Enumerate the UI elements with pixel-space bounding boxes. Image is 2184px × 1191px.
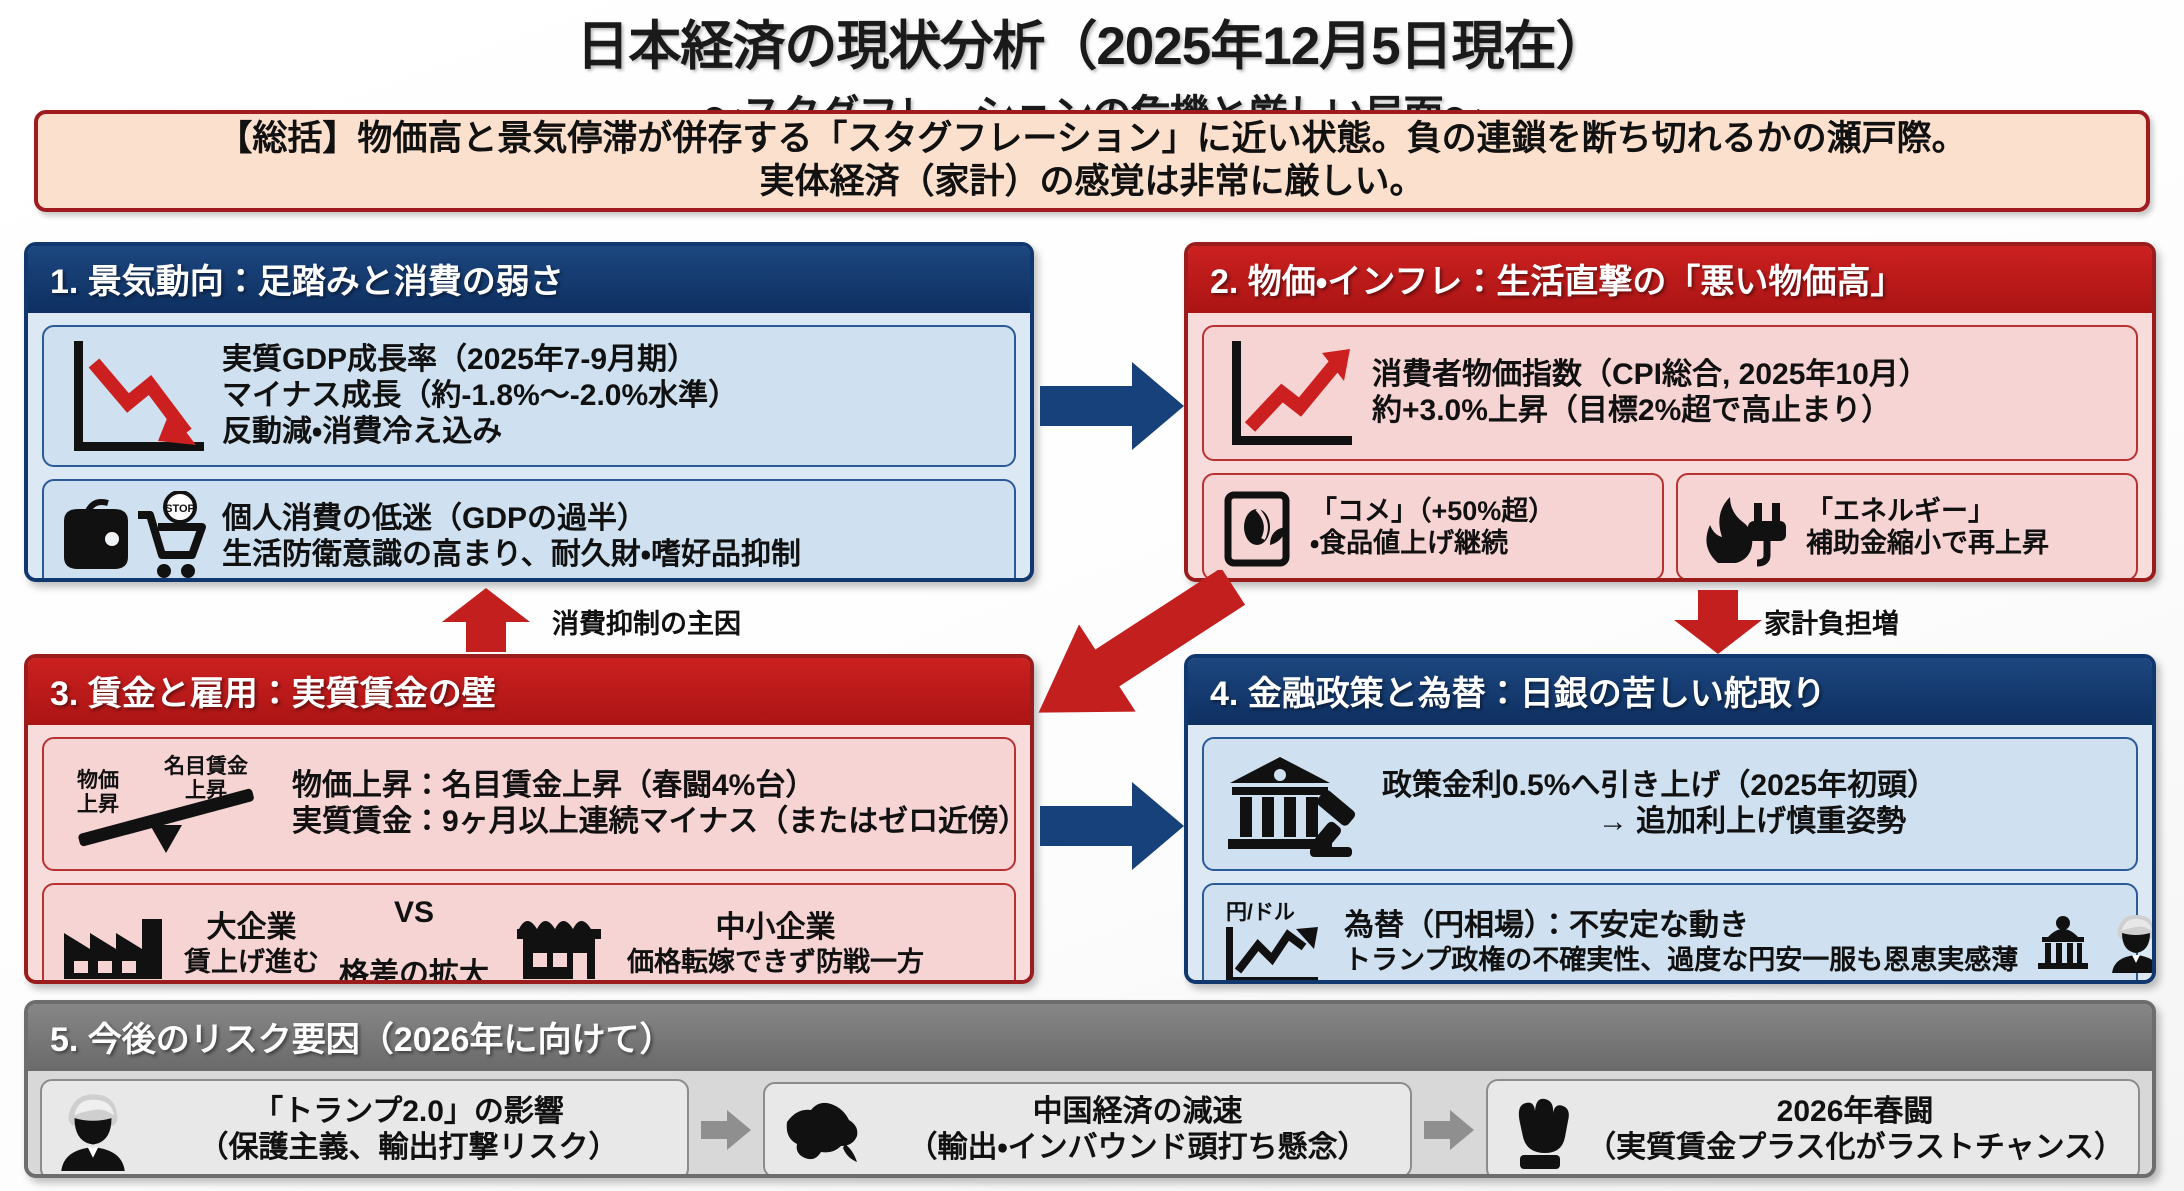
capitol-building-icon xyxy=(2032,913,2094,971)
trump-portrait-icon xyxy=(2108,911,2156,973)
chip-line-1: 中国経済の減速 xyxy=(879,1094,1396,1130)
panel-prices-inflation[interactable]: 2. 物価・インフレ：生活直撃の「悪い物価高」 消費者物価指数（CPI総合, 2… xyxy=(1184,242,2156,582)
small-firm-title: 中小企業 xyxy=(627,910,924,946)
arrow-label-household-burden: 家計負担増 xyxy=(1764,602,1899,641)
arrow-label-consumption-suppression: 消費抑制の主因 xyxy=(552,602,741,641)
chip-line-2: （実質賃金プラス化がラストチャンス） xyxy=(1586,1130,2124,1166)
card-real-gdp[interactable]: 実質GDP成長率（2025年7-9月期） マイナス成長（約-1.8%～-2.0%… xyxy=(42,325,1016,467)
chip-line-2: （保護主義、輸出打撃リスク） xyxy=(144,1130,673,1166)
svg-text:円/ドル: 円/ドル xyxy=(1226,901,1295,924)
summary-banner: 【総括】物価高と景気停滞が併存する「スタグフレーション」に近い状態。負の連鎖を断… xyxy=(34,110,2150,212)
card-policy-rate[interactable]: 政策金利0.5%へ引き上げ（2025年初頭） → 追加利上げ慎重姿勢 xyxy=(1202,737,2138,871)
card-line: トランプ政権の不確実性、過度な円安一服も恩恵実感薄 xyxy=(1344,944,2018,976)
card-line: 物価上昇：名目賃金上昇（春闘4%台） xyxy=(292,768,1028,804)
seesaw-balance-icon: 物価 上昇 名目賃金 上昇 xyxy=(58,749,278,859)
summary-line-2: 実体経済（家計）の感覚は非常に厳しい。 xyxy=(759,161,1424,204)
yen-dollar-chart-icon: 円/ドル xyxy=(1218,895,1330,984)
svg-text:上昇: 上昇 xyxy=(77,793,119,816)
energy-flame-plug-icon xyxy=(1692,485,1792,569)
down-trend-chart-icon xyxy=(58,337,208,455)
risk-chip-trump[interactable]: 「トランプ2.0」の影響 （保護主義、輸出打撃リスク） xyxy=(40,1079,689,1178)
card-fx[interactable]: 円/ドル 為替（円相場）：不安定な動き トランプ政権の不確実性、過度な円安一服も… xyxy=(1202,883,2138,984)
panel-wages-employment[interactable]: 3. 賃金と雇用：実質賃金の壁 物価 上昇 名目賃金 上昇 物価上昇：名目賃金上… xyxy=(24,654,1034,984)
svg-text:STOP: STOP xyxy=(165,503,195,515)
card-energy[interactable]: 「エネルギー」 補助金縮小で再上昇 xyxy=(1676,473,2138,581)
card-line: 実質賃金：9ヶ月以上連続マイナス（またはゼロ近傍） xyxy=(292,804,1028,840)
card-line: 「コメ」（+50%超） xyxy=(1310,495,1648,527)
panel-4-title: 4. 金融政策と為替：日銀の苦しい舵取り xyxy=(1188,658,2152,725)
card-line: 消費者物価指数（CPI総合, 2025年10月） xyxy=(1372,357,2122,393)
svg-text:名目賃金: 名目賃金 xyxy=(163,754,248,778)
panel-3-title: 3. 賃金と雇用：実質賃金の壁 xyxy=(28,658,1030,725)
chip-line-1: 2026年春闘 xyxy=(1586,1094,2124,1130)
page-title: 日本経済の現状分析（2025年12月5日現在） xyxy=(0,4,2184,80)
card-line: 反動減・消費冷え込み xyxy=(222,414,1000,450)
card-line: 生活防衛意識の高まり、耐久財・嗜好品抑制 xyxy=(222,537,1000,573)
svg-text:物価: 物価 xyxy=(77,768,119,792)
card-cpi[interactable]: 消費者物価指数（CPI総合, 2025年10月） 約+3.0%上昇（目標2%超で… xyxy=(1202,325,2138,461)
bank-gavel-icon xyxy=(1218,749,1368,859)
chip-arrow-icon xyxy=(1422,1108,1476,1152)
chip-line-2: （輸出・インバウンド頭打ち懸念） xyxy=(879,1130,1396,1166)
card-line: 個人消費の低迷（GDPの過半） xyxy=(222,501,1000,537)
card-line: マイナス成長（約-1.8%～-2.0%水準） xyxy=(222,378,1000,414)
gap-caption: 格差の拡大 xyxy=(339,957,489,984)
large-firm-sub: 賃上げ進む xyxy=(184,946,319,978)
wallet-cart-stop-icon: STOP xyxy=(58,491,208,582)
panel-monetary-policy-fx[interactable]: 4. 金融政策と為替：日銀の苦しい舵取り xyxy=(1184,654,2156,984)
card-large-vs-small-firms[interactable]: 大企業 賃上げ進む VS 格差の拡大 xyxy=(42,883,1016,984)
arrow-p3-to-p1 xyxy=(440,588,532,652)
raised-fist-icon xyxy=(1502,1089,1572,1171)
vs-label: VS xyxy=(339,895,489,931)
chip-arrow-icon xyxy=(699,1108,753,1152)
rice-bag-icon xyxy=(1218,485,1296,569)
card-line: 為替（円相場）：不安定な動き xyxy=(1344,908,2018,944)
arrow-p2-to-p4 xyxy=(1672,590,1764,654)
card-personal-consumption[interactable]: STOP 個人消費の低迷（GDPの過半） 生活防衛意識の高まり、耐久財・嗜好品抑… xyxy=(42,479,1016,582)
card-line: 補助金縮小で再上昇 xyxy=(1806,527,2122,559)
card-line: 「エネルギー」 xyxy=(1806,495,2122,527)
card-rice[interactable]: 「コメ」（+50%超） ・食品値上げ継続 xyxy=(1202,473,1664,581)
factory-icon xyxy=(58,903,170,984)
arrow-p1-to-p2 xyxy=(1040,360,1186,452)
panel-1-title: 1. 景気動向：足踏みと消費の弱さ xyxy=(28,246,1030,313)
small-firm-sub: 価格転嫁できず防戦一方 xyxy=(627,946,924,978)
card-line: 政策金利0.5%へ引き上げ（2025年初頭） xyxy=(1382,768,2122,804)
up-trend-chart-icon xyxy=(1218,337,1358,449)
summary-line-1: 【総括】物価高と景気停滞が併存する「スタグフレーション」に近い状態。負の連鎖を断… xyxy=(217,118,1966,161)
card-line: 約+3.0%上昇（目標2%超で高止まり） xyxy=(1372,393,2122,429)
china-map-icon xyxy=(779,1094,865,1166)
trump-portrait-icon xyxy=(56,1089,130,1171)
card-real-wages[interactable]: 物価 上昇 名目賃金 上昇 物価上昇：名目賃金上昇（春闘4%台） 実質賃金：9ヶ… xyxy=(42,737,1016,871)
card-line: 実質GDP成長率（2025年7-9月期） xyxy=(222,342,1000,378)
arrow-p3-to-p4 xyxy=(1040,780,1186,872)
card-line: ・食品値上げ継続 xyxy=(1310,527,1648,559)
panel-2-title: 2. 物価・インフレ：生活直撃の「悪い物価高」 xyxy=(1188,246,2152,313)
small-shop-icon xyxy=(509,903,613,984)
risk-chip-china[interactable]: 中国経済の減速 （輸出・インバウンド頭打ち懸念） xyxy=(763,1082,1412,1178)
risk-chip-shunto[interactable]: 2026年春闘 （実質賃金プラス化がラストチャンス） xyxy=(1486,1079,2140,1178)
panel-5-title: 5. 今後のリスク要因（2026年に向けて） xyxy=(28,1004,2152,1071)
panel-future-risks[interactable]: 5. 今後のリスク要因（2026年に向けて） 「トランプ2.0」の xyxy=(24,1000,2156,1178)
card-line: → 追加利上げ慎重姿勢 xyxy=(1382,804,2122,840)
chip-line-1: 「トランプ2.0」の影響 xyxy=(144,1094,673,1130)
panel-business-conditions[interactable]: 1. 景気動向：足踏みと消費の弱さ 実質GDP成長率（2025年7-9月期） マ… xyxy=(24,242,1034,582)
arrow-p2-to-p3 xyxy=(1000,570,1270,730)
infographic-root: 日本経済の現状分析（2025年12月5日現在） ～スタグフレーションの危機と厳し… xyxy=(0,0,2184,1191)
large-firm-title: 大企業 xyxy=(184,910,319,946)
